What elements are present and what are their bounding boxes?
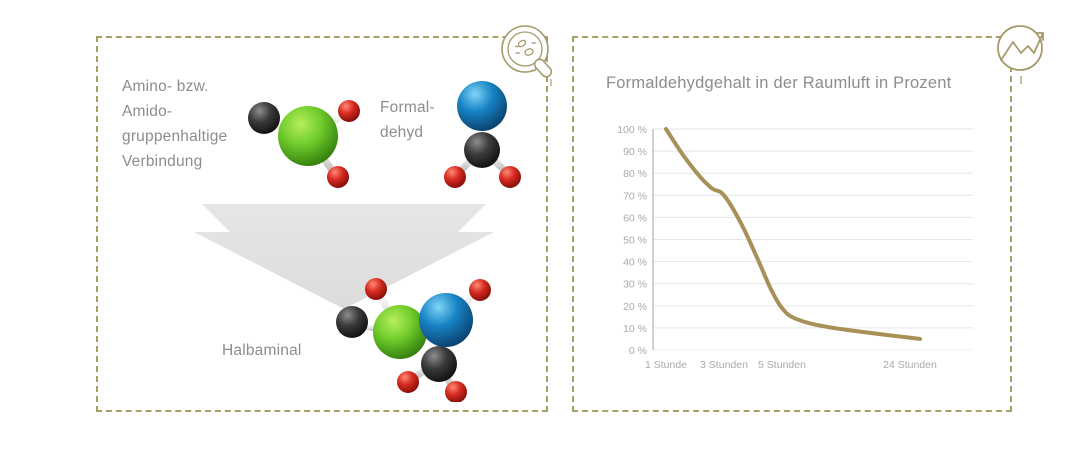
x-axis-tick-label: 24 Stunden: [883, 359, 937, 370]
y-axis-tick-label: 30 %: [623, 279, 647, 291]
x-axis-tick-label: 5 Stunden: [758, 359, 806, 370]
y-axis-tick-label: 0 %: [629, 345, 647, 357]
x-axis-tick-label: 1 Stunde: [645, 359, 687, 370]
y-axis-tick-label: 50 %: [623, 235, 647, 247]
y-axis-tick-label: 70 %: [623, 190, 647, 202]
y-axis-tick-label: 10 %: [623, 323, 647, 335]
halbaminal-molecule: [326, 274, 504, 402]
chart-gridlines: [653, 129, 973, 350]
formaldehyde-molecule: [436, 70, 528, 192]
amine-molecule: [236, 84, 368, 196]
magnifier-molecule-icon: [498, 22, 564, 88]
y-axis-tick-label: 20 %: [623, 301, 647, 313]
line-chart: 100 %90 %80 %70 %60 %50 %40 %30 %20 %10 …: [600, 120, 990, 370]
x-axis-tick-label: 3 Stunden: [700, 359, 748, 370]
y-axis-tick-label: 100 %: [617, 124, 647, 136]
y-axis-tick-label: 40 %: [623, 257, 647, 269]
chart-y-axis-labels: 100 %90 %80 %70 %60 %50 %40 %30 %20 %10 …: [617, 124, 647, 357]
chart-title: Formaldehydgehalt in der Raumluft in Pro…: [606, 74, 951, 93]
y-axis-tick-label: 60 %: [623, 212, 647, 224]
trend-chart-icon: [988, 20, 1054, 86]
y-axis-tick-label: 80 %: [623, 168, 647, 180]
chart-x-axis-labels: 1 Stunde3 Stunden5 Stunden24 Stunden: [645, 359, 937, 370]
y-axis-tick-label: 90 %: [623, 146, 647, 158]
chart-series-line: [666, 129, 920, 339]
